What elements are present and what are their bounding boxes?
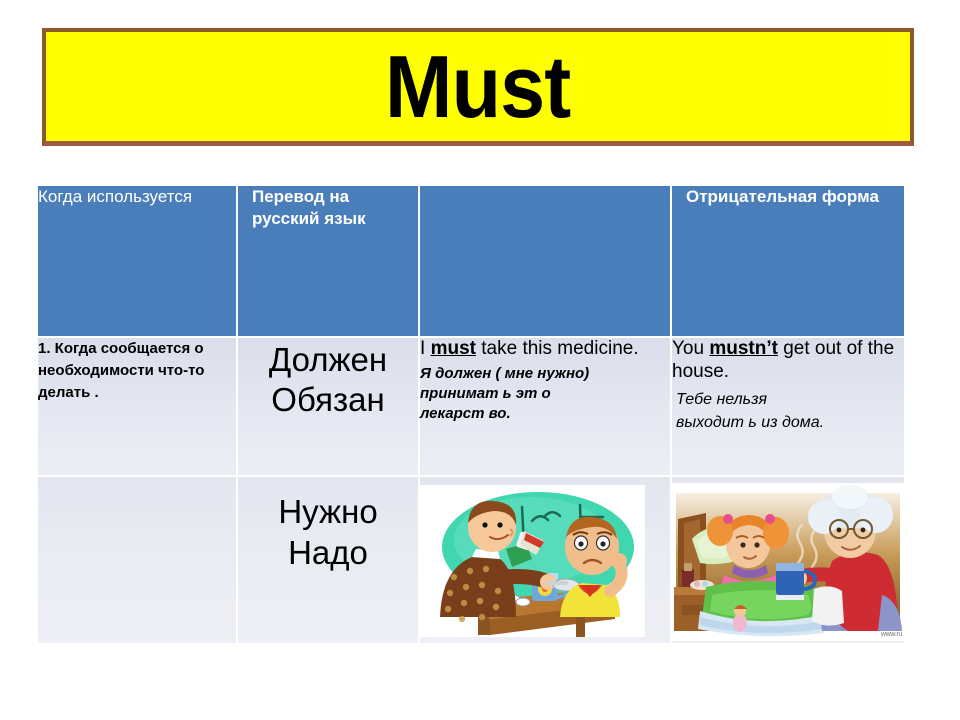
cell-translation-secondary: Нужно Надо — [238, 477, 420, 645]
title-banner: Must — [42, 28, 914, 146]
negative-russian-translation: Тебе нельзя выходит ь из дома. — [672, 388, 904, 434]
medicine-scene-svg — [420, 485, 645, 637]
image-father-giving-medicine — [420, 485, 645, 637]
example-russian-line-1: Я должен ( мне нужно) — [420, 364, 670, 384]
example-prefix: I — [420, 338, 431, 359]
translation-text: Должен Обязан — [238, 338, 418, 421]
translation-line-1: Нужно — [238, 491, 418, 532]
header-label-russian-translation: Перевод на русский язык — [252, 186, 418, 230]
negative-russian-line-2: выходит ь из дома. — [676, 411, 904, 434]
header-label-negative-form: Отрицательная форма — [686, 186, 904, 208]
table-row: Нужно Надо — [38, 477, 904, 645]
translation-line-2: Надо — [238, 532, 418, 573]
image-watermark: www.ru — [881, 631, 902, 638]
header-cell-when-used: Когда используется — [38, 186, 238, 338]
example-russian-line-3: лекарст во. — [420, 404, 670, 424]
cell-usage-description: 1. Когда сообщается о необходимости что-… — [38, 338, 238, 477]
table-row: 1. Когда сообщается о необходимости что-… — [38, 338, 904, 477]
example-keyword-must: must — [431, 338, 476, 359]
illustration-wrapper: www.ru — [672, 477, 904, 643]
illustration-wrapper — [420, 477, 670, 643]
page-title: Must — [385, 43, 570, 131]
sickbed-scene-svg — [672, 483, 904, 641]
negative-russian-line-1: Тебе нельзя — [676, 388, 904, 411]
cell-example-affirmative: I must take this medicine. Я должен ( мн… — [420, 338, 672, 477]
header-cell-russian-translation: Перевод на русский язык — [238, 186, 420, 338]
usage-text: 1. Когда сообщается о необходимости что-… — [38, 338, 236, 403]
negative-english-sentence: You mustn’t get out of the house. — [672, 338, 904, 384]
negative-keyword-mustnt: mustn’t — [709, 338, 778, 359]
cell-translation-primary: Должен Обязан — [238, 338, 420, 477]
translation-line-2: Обязан — [238, 380, 418, 420]
example-english-sentence: I must take this medicine. — [420, 338, 670, 361]
example-russian-line-2: принимат ь эт о — [420, 384, 670, 404]
translation-line-1: Должен — [238, 340, 418, 380]
header-label-when-used: Когда используется — [38, 186, 236, 209]
cell-example-negative: You mustn’t get out of the house. Тебе н… — [672, 338, 904, 477]
example-russian-translation: Я должен ( мне нужно) принимат ь эт о ле… — [420, 364, 670, 425]
header-cell-example — [420, 186, 672, 338]
translation-text-secondary: Нужно Надо — [238, 477, 418, 574]
table-header-row: Когда используется Перевод на русский яз… — [38, 186, 904, 338]
cell-usage-empty — [38, 477, 238, 645]
cell-illustration-medicine — [420, 477, 672, 645]
example-suffix: take this medicine. — [476, 338, 639, 359]
negative-prefix: You — [672, 338, 709, 359]
header-cell-negative-form: Отрицательная форма — [672, 186, 904, 338]
cell-illustration-sickbed: www.ru — [672, 477, 904, 645]
image-grandmother-and-sick-girl: www.ru — [672, 483, 904, 641]
grammar-table: Когда используется Перевод на русский яз… — [38, 186, 904, 645]
